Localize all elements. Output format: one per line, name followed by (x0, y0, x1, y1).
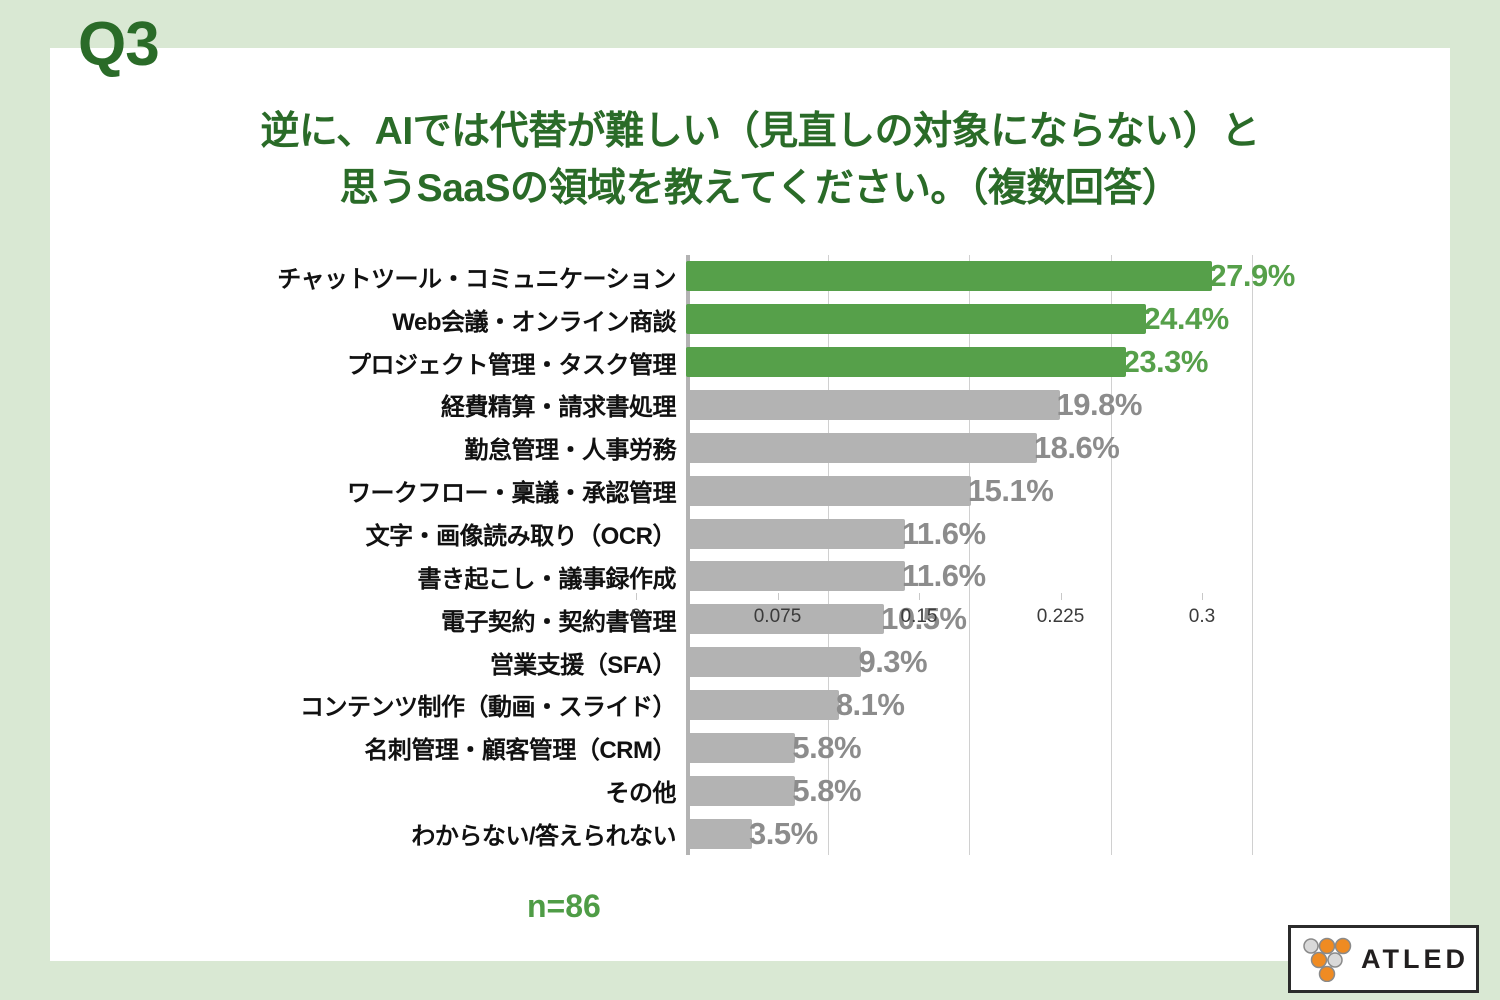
category-label: その他 (606, 773, 677, 808)
category-label: ワークフロー・稟議・承認管理 (347, 473, 676, 508)
category-label: チャットツール・コミュニケーション (277, 259, 676, 294)
category-label: 文字・画像読み取り（OCR） (366, 516, 676, 551)
bar-value-label: 5.8% (792, 773, 861, 809)
atled-network-icon (1299, 936, 1353, 982)
category-label: Web会議・オンライン商談 (392, 302, 676, 337)
bar-row: Web会議・オンライン商談24.4% (686, 298, 1450, 341)
bar (686, 561, 905, 591)
x-tick-mark (1202, 593, 1203, 600)
bar-value-label: 11.6% (902, 558, 986, 594)
bar-value-label: 5.8% (792, 730, 861, 766)
bar (686, 690, 839, 720)
bar-row: 営業支援（SFA）9.3% (686, 641, 1450, 684)
x-tick-label: 0.075 (754, 606, 802, 628)
question-number: Q3 (78, 14, 159, 76)
bar-row: 勤怠管理・人事労務18.6% (686, 426, 1450, 469)
bar-row: プロジェクト管理・タスク管理23.3% (686, 341, 1450, 384)
category-label: 営業支援（SFA） (490, 645, 676, 680)
logo-wordmark: ATLED (1361, 944, 1469, 975)
x-tick-mark (778, 593, 779, 600)
bar-value-label: 23.3% (1123, 344, 1208, 380)
bar-row: 経費精算・請求書処理19.8% (686, 384, 1450, 427)
bar-row: わからない/答えられない3.5% (686, 812, 1450, 855)
x-tick-mark (636, 593, 637, 600)
bar (686, 261, 1212, 291)
x-tick-label: 0 (631, 606, 642, 628)
category-label: プロジェクト管理・タスク管理 (347, 345, 676, 380)
bar-row: その他5.8% (686, 769, 1450, 812)
title-line-1: 逆に、AIでは代替が難しい（見直しの対象にならない）と (110, 104, 1410, 161)
bar-chart: チャットツール・コミュニケーション27.9%Web会議・オンライン商談24.4%… (50, 255, 1450, 855)
bar (686, 647, 861, 677)
bar (686, 433, 1037, 463)
bar-value-label: 3.5% (749, 816, 818, 852)
category-label: コンテンツ制作（動画・スライド） (300, 687, 676, 722)
bar-value-label: 19.8% (1057, 387, 1142, 423)
bar-value-label: 18.6% (1034, 430, 1119, 466)
bar (686, 390, 1060, 420)
bar (686, 304, 1146, 334)
bar-row: 名刺管理・顧客管理（CRM）5.8% (686, 726, 1450, 769)
x-tick-label: 0.225 (1037, 606, 1085, 628)
bar-row: コンテンツ制作（動画・スライド）8.1% (686, 684, 1450, 727)
x-tick-label: 0.15 (901, 606, 938, 628)
bar (686, 776, 795, 806)
sample-size-label: n=86 (527, 888, 601, 925)
x-tick-mark (1061, 593, 1062, 600)
x-tick-label: 0.3 (1189, 606, 1215, 628)
category-label: 勤怠管理・人事労務 (465, 430, 677, 465)
bar-row: チャットツール・コミュニケーション27.9% (686, 255, 1450, 298)
category-label: わからない/答えられない (411, 816, 676, 851)
bar-row: 文字・画像読み取り（OCR）11.6% (686, 512, 1450, 555)
bar-value-label: 27.9% (1209, 258, 1294, 294)
x-axis: 00.0750.150.2250.3 (636, 600, 1500, 636)
category-label: 名刺管理・顧客管理（CRM） (364, 730, 676, 765)
bar (686, 519, 905, 549)
plot-area: チャットツール・コミュニケーション27.9%Web会議・オンライン商談24.4%… (686, 255, 1450, 855)
category-label: 書き起こし・議事録作成 (418, 559, 677, 594)
atled-logo: ATLED (1288, 925, 1479, 993)
x-tick-mark (919, 593, 920, 600)
page-title: 逆に、AIでは代替が難しい（見直しの対象にならない）と 思うSaaSの領域を教え… (110, 104, 1410, 217)
bar (686, 819, 752, 849)
bar-value-label: 8.1% (836, 687, 905, 723)
category-label: 経費精算・請求書処理 (441, 387, 676, 422)
bar-row: ワークフロー・稟議・承認管理15.1% (686, 469, 1450, 512)
bar-value-label: 11.6% (902, 516, 986, 552)
title-line-2: 思うSaaSの領域を教えてください。（複数回答） (110, 161, 1410, 218)
bar (686, 733, 795, 763)
bar-value-label: 15.1% (968, 473, 1053, 509)
bar (686, 476, 971, 506)
bar-value-label: 9.3% (858, 644, 927, 680)
bar-row: 書き起こし・議事録作成11.6% (686, 555, 1450, 598)
bar (686, 347, 1126, 377)
bar-value-label: 24.4% (1143, 301, 1228, 337)
